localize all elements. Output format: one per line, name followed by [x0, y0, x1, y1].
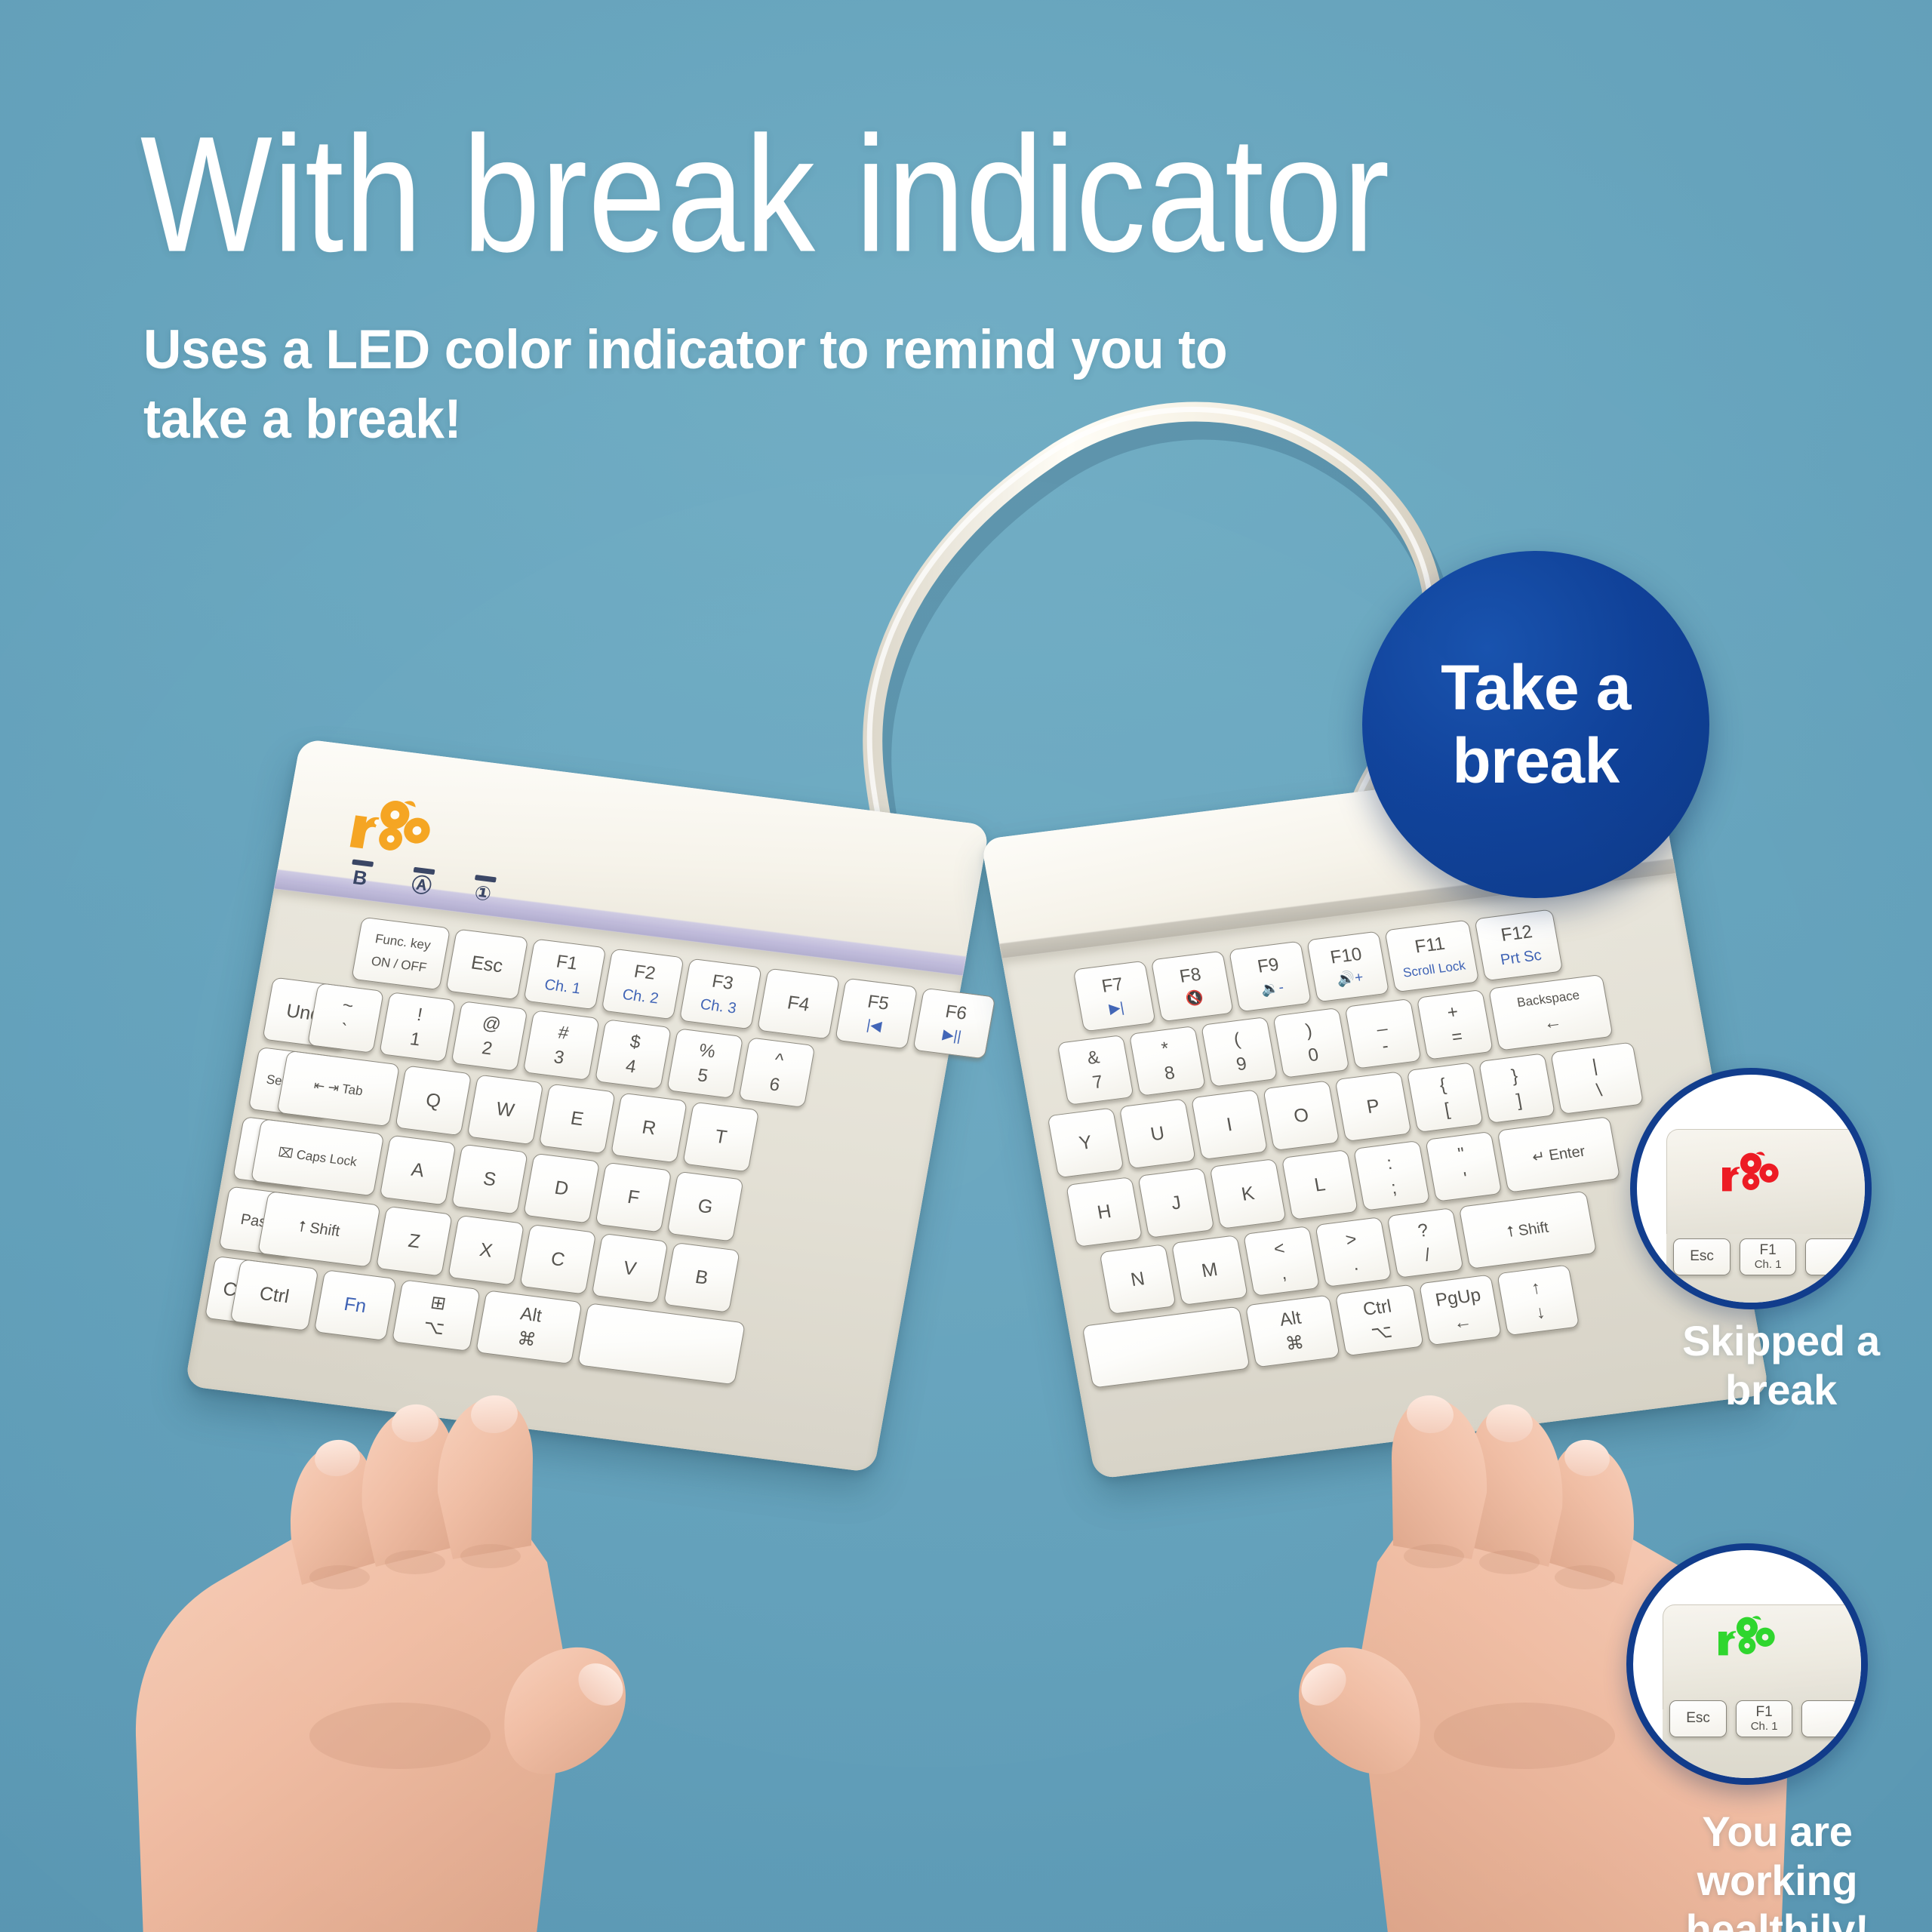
- key-p[interactable]: P: [1334, 1071, 1411, 1142]
- key--[interactable]: (9: [1201, 1017, 1278, 1088]
- callout-key-partial: [1805, 1238, 1863, 1275]
- key--[interactable]: !1: [379, 992, 456, 1063]
- key-label: ⭡ Shift: [297, 1219, 341, 1240]
- key-label: F12: [1500, 922, 1534, 945]
- key-l[interactable]: L: [1281, 1149, 1358, 1220]
- caps-lock-led-icon: Ⓐ: [409, 867, 435, 897]
- key-label: ▶|: [1108, 1001, 1125, 1017]
- key-label: ←: [1452, 1312, 1473, 1333]
- key-label: F2: [632, 962, 657, 983]
- key-label: F9: [1256, 955, 1280, 976]
- key--[interactable]: )0: [1272, 1008, 1349, 1078]
- key-c[interactable]: C: [519, 1224, 596, 1295]
- key-label: V: [622, 1258, 638, 1279]
- key-label: 9: [1235, 1054, 1248, 1074]
- key--[interactable]: ⊞⌥: [392, 1279, 481, 1352]
- key-label: F10: [1329, 944, 1363, 967]
- key-label: Func. key: [374, 932, 432, 952]
- key-label: ⭡ Shift: [1506, 1220, 1549, 1241]
- marketing-slide: With break indicator Uses a LED color in…: [0, 0, 1932, 1932]
- key-label: K: [1240, 1183, 1256, 1204]
- key-label: ~: [341, 995, 355, 1016]
- key--[interactable]: %5: [666, 1028, 743, 1099]
- key-label: F8: [1178, 964, 1202, 986]
- key-label: Ch. 3: [699, 997, 737, 1017]
- key-label: L: [1313, 1174, 1327, 1195]
- key-label: A: [410, 1160, 426, 1181]
- key-f8[interactable]: F8🔇: [1151, 951, 1234, 1023]
- key-label: ↓: [1534, 1303, 1546, 1322]
- key-label: !: [416, 1005, 424, 1025]
- key-label: Ch. 1: [543, 977, 582, 998]
- rgo-logo-icon: [345, 791, 436, 860]
- key-label: U: [1149, 1123, 1167, 1144]
- key-label: 5: [696, 1066, 709, 1085]
- key-a[interactable]: A: [379, 1135, 456, 1206]
- key-label: F7: [1100, 974, 1124, 995]
- key-label: [: [1443, 1100, 1451, 1120]
- key-label: F3: [710, 972, 734, 993]
- key-label: ⌧ Caps Lock: [277, 1146, 358, 1169]
- key-label: ⌥: [1370, 1322, 1394, 1343]
- key-label: 4: [624, 1057, 638, 1076]
- key-label: {: [1438, 1075, 1447, 1095]
- key-func-key[interactable]: Func. keyON / OFF: [351, 917, 451, 991]
- key-label: ": [1457, 1145, 1466, 1164]
- key-label: Ch. 2: [621, 987, 660, 1008]
- key-label: F1: [555, 952, 579, 974]
- key-label: ⌘: [1284, 1333, 1306, 1354]
- key-label: F6: [944, 1001, 968, 1023]
- key-f7[interactable]: F7▶|: [1073, 961, 1156, 1032]
- key-label: O: [1292, 1105, 1310, 1126]
- callout-healthy-circle[interactable]: Esc F1 Ch. 1: [1626, 1543, 1868, 1785]
- key-label: E: [569, 1108, 585, 1129]
- key-label: Backspace: [1516, 989, 1581, 1010]
- key-label: N: [1129, 1269, 1146, 1290]
- callout-skipped-a-break: Esc F1 Ch. 1 Skipped a break: [1630, 1068, 1932, 1430]
- key-label: #: [557, 1023, 571, 1043]
- key-v[interactable]: V: [591, 1233, 668, 1304]
- key-e[interactable]: E: [539, 1084, 616, 1155]
- key-label: @: [481, 1014, 503, 1035]
- key-label: ⇤ ⇥ Tab: [312, 1079, 364, 1099]
- key--[interactable]: :;: [1353, 1140, 1430, 1211]
- key-label: }: [1510, 1066, 1519, 1086]
- callout-skipped-circle[interactable]: Esc F1 Ch. 1: [1630, 1068, 1872, 1309]
- key-q[interactable]: Q: [395, 1066, 472, 1137]
- key-label: 🔇: [1184, 991, 1204, 1008]
- callout-working-healthily: Esc F1 Ch. 1 You are working healthily!: [1619, 1543, 1932, 1921]
- key-o[interactable]: O: [1263, 1080, 1340, 1151]
- key-label: Scroll Lock: [1402, 958, 1467, 980]
- key-f10[interactable]: F10🔊+: [1306, 931, 1389, 1003]
- key-label: D: [553, 1178, 571, 1199]
- key-f2[interactable]: F2Ch. 2: [601, 949, 685, 1020]
- badge-line-1: Take a: [1441, 652, 1631, 723]
- key-f11[interactable]: F11Scroll Lock: [1384, 919, 1479, 992]
- key-f4[interactable]: F4: [757, 968, 840, 1040]
- key-alt[interactable]: Alt⌘: [1245, 1295, 1340, 1368]
- key-label: ): [1304, 1021, 1313, 1041]
- key-ctrl[interactable]: Ctrl⌥: [1335, 1284, 1424, 1356]
- key-h[interactable]: H: [1066, 1177, 1143, 1247]
- key-label: W: [494, 1099, 515, 1121]
- key-s[interactable]: S: [451, 1144, 528, 1215]
- key-label: *: [1160, 1039, 1171, 1059]
- key-label: T: [713, 1127, 728, 1148]
- key-label: ⌘: [516, 1329, 537, 1350]
- key-label: X: [478, 1240, 494, 1261]
- key--[interactable]: ^6: [738, 1037, 815, 1108]
- key-label: F4: [786, 992, 811, 1015]
- key-label: +: [1446, 1002, 1460, 1023]
- key-d[interactable]: D: [523, 1153, 600, 1224]
- key-f12[interactable]: F12Prt Sc: [1474, 909, 1563, 981]
- key-w[interactable]: W: [466, 1075, 543, 1146]
- key--[interactable]: "': [1425, 1131, 1502, 1202]
- key-m[interactable]: M: [1171, 1235, 1248, 1306]
- key--[interactable]: <,: [1243, 1226, 1320, 1297]
- key-label: F: [626, 1187, 641, 1208]
- key-b[interactable]: B: [663, 1242, 740, 1313]
- key-f1[interactable]: F1Ch. 1: [523, 939, 606, 1011]
- key-fn[interactable]: Fn: [314, 1269, 397, 1341]
- key-ctrl[interactable]: Ctrl: [229, 1259, 318, 1331]
- key-label: Alt: [519, 1304, 543, 1325]
- key-label: 8: [1163, 1063, 1177, 1083]
- key--[interactable]: &7: [1057, 1035, 1134, 1106]
- key-x[interactable]: X: [448, 1215, 525, 1286]
- key-label: ⊞: [429, 1293, 448, 1313]
- rgo-logo-icon: [1719, 1150, 1780, 1194]
- key-label: &: [1086, 1048, 1101, 1068]
- key-g[interactable]: G: [666, 1171, 743, 1242]
- key-label: P: [1365, 1096, 1381, 1117]
- key-i[interactable]: I: [1191, 1089, 1268, 1160]
- key-r[interactable]: R: [611, 1093, 688, 1164]
- key-label: 6: [768, 1075, 782, 1094]
- key--[interactable]: #3: [523, 1010, 600, 1081]
- key-label: F5: [866, 992, 891, 1013]
- key-label: G: [697, 1196, 715, 1217]
- key-esc[interactable]: Esc: [445, 928, 528, 1000]
- key-k[interactable]: K: [1210, 1158, 1287, 1229]
- key-pgup[interactable]: PgUp←: [1419, 1274, 1502, 1346]
- take-a-break-badge[interactable]: Take a break: [1362, 551, 1709, 898]
- key-label: >: [1344, 1229, 1358, 1250]
- key-t[interactable]: T: [682, 1102, 759, 1173]
- callout-skipped-label: Skipped a break: [1630, 1317, 1932, 1415]
- key-label: =: [1451, 1027, 1464, 1048]
- key-label: H: [1096, 1201, 1113, 1223]
- key-label: :: [1386, 1154, 1394, 1174]
- key-label: ▶||: [941, 1028, 962, 1045]
- key-label: 🔉-: [1260, 980, 1284, 998]
- key--[interactable]: ~`: [307, 983, 384, 1054]
- key-y[interactable]: Y: [1047, 1107, 1124, 1178]
- key-label: S: [481, 1169, 497, 1190]
- key--[interactable]: @2: [451, 1001, 528, 1072]
- key-label: R: [641, 1117, 658, 1138]
- key-alt[interactable]: Alt⌘: [475, 1290, 583, 1364]
- key-label: ON / OFF: [370, 955, 427, 975]
- key-label: Z: [407, 1231, 422, 1252]
- key-label: ,: [1279, 1264, 1287, 1284]
- page-title: With break indicator: [140, 112, 1553, 276]
- key--[interactable]: {[: [1407, 1062, 1484, 1133]
- key-f9[interactable]: F9🔉-: [1229, 941, 1312, 1013]
- key-z[interactable]: Z: [376, 1206, 453, 1277]
- key-label: PgUp: [1434, 1285, 1482, 1309]
- key-label: /: [1423, 1245, 1432, 1265]
- key-label: Ctrl: [1361, 1297, 1393, 1319]
- callout-key-f1: F1 Ch. 1: [1736, 1700, 1793, 1737]
- key--[interactable]: >.: [1315, 1217, 1392, 1287]
- page-subtitle: Uses a LED color indicator to remind you…: [143, 315, 1282, 454]
- key--[interactable]: +=: [1417, 989, 1494, 1060]
- key-label: ?: [1417, 1220, 1430, 1240]
- key-label: 0: [1306, 1045, 1320, 1065]
- key-label: %: [697, 1041, 717, 1061]
- key-label: 7: [1091, 1072, 1105, 1092]
- key-label: |◀: [866, 1018, 883, 1035]
- key-label: Y: [1078, 1132, 1094, 1153]
- key-label: 🔊+: [1336, 971, 1364, 989]
- key-label: J: [1170, 1192, 1183, 1213]
- key-label: Alt: [1278, 1308, 1303, 1329]
- key-label: Fn: [343, 1294, 368, 1317]
- rgo-logo-icon: [1715, 1614, 1776, 1658]
- key-label: ^: [774, 1051, 786, 1070]
- key--[interactable]: $4: [595, 1019, 672, 1090]
- key-label: <: [1272, 1238, 1286, 1259]
- key-label: `: [339, 1020, 348, 1040]
- key-f6[interactable]: F6▶||: [912, 988, 995, 1060]
- callout-key-f1: F1 Ch. 1: [1740, 1238, 1797, 1275]
- key--[interactable]: _-: [1345, 998, 1422, 1069]
- key-label: ': [1463, 1169, 1469, 1188]
- key-label: 3: [552, 1048, 566, 1067]
- key-label: ;: [1390, 1178, 1398, 1198]
- key-label: B: [694, 1267, 709, 1288]
- key-label: (: [1232, 1030, 1241, 1050]
- key-label: C: [549, 1249, 567, 1270]
- callout-key-partial: [1801, 1700, 1859, 1737]
- key-label: Ctrl: [258, 1284, 291, 1307]
- key--[interactable]: }]: [1478, 1053, 1555, 1124]
- key-u[interactable]: U: [1119, 1098, 1196, 1169]
- key-n[interactable]: N: [1099, 1244, 1176, 1315]
- key-label: Q: [424, 1090, 442, 1111]
- badge-line-2: break: [1452, 725, 1619, 796]
- key-f5[interactable]: F5|◀: [835, 978, 918, 1050]
- key-label: F11: [1414, 934, 1447, 957]
- key-label: ←: [1542, 1013, 1563, 1034]
- key-label: .: [1352, 1254, 1360, 1274]
- key-label: 1: [408, 1029, 422, 1049]
- key-label: ↑: [1530, 1278, 1542, 1297]
- key-label: ⌥: [422, 1317, 446, 1338]
- key-label: Prt Sc: [1500, 948, 1543, 969]
- key-f3[interactable]: F3Ch. 3: [679, 958, 762, 1030]
- key--[interactable]: *8: [1129, 1026, 1206, 1097]
- callout-healthy-label: You are working healthily!: [1619, 1807, 1932, 1932]
- key-f[interactable]: F: [595, 1162, 672, 1233]
- key-label: $: [629, 1032, 642, 1052]
- key-label: |: [1591, 1057, 1599, 1076]
- key-label: ↵ Enter: [1531, 1143, 1586, 1165]
- key-label: 2: [481, 1038, 494, 1058]
- key-label: \: [1595, 1081, 1604, 1100]
- key-label: _: [1374, 1011, 1388, 1031]
- callout-key-esc: Esc: [1673, 1238, 1730, 1275]
- key--[interactable]: ?/: [1386, 1207, 1463, 1278]
- key-label: M: [1200, 1260, 1219, 1281]
- key--[interactable]: ↑↓: [1497, 1264, 1580, 1336]
- key-label: Esc: [469, 952, 504, 976]
- key-label: -: [1380, 1036, 1389, 1056]
- callout-key-esc: Esc: [1669, 1700, 1727, 1737]
- key-label: I: [1225, 1115, 1234, 1135]
- key-j[interactable]: J: [1137, 1168, 1214, 1238]
- key-label: ]: [1515, 1091, 1523, 1111]
- left-keyboard[interactable]: B Ⓐ ① Func. keyON / OFFEscF1Ch. 1F2Ch. 2…: [184, 739, 989, 1473]
- bluetooth-led-icon: B: [348, 859, 374, 888]
